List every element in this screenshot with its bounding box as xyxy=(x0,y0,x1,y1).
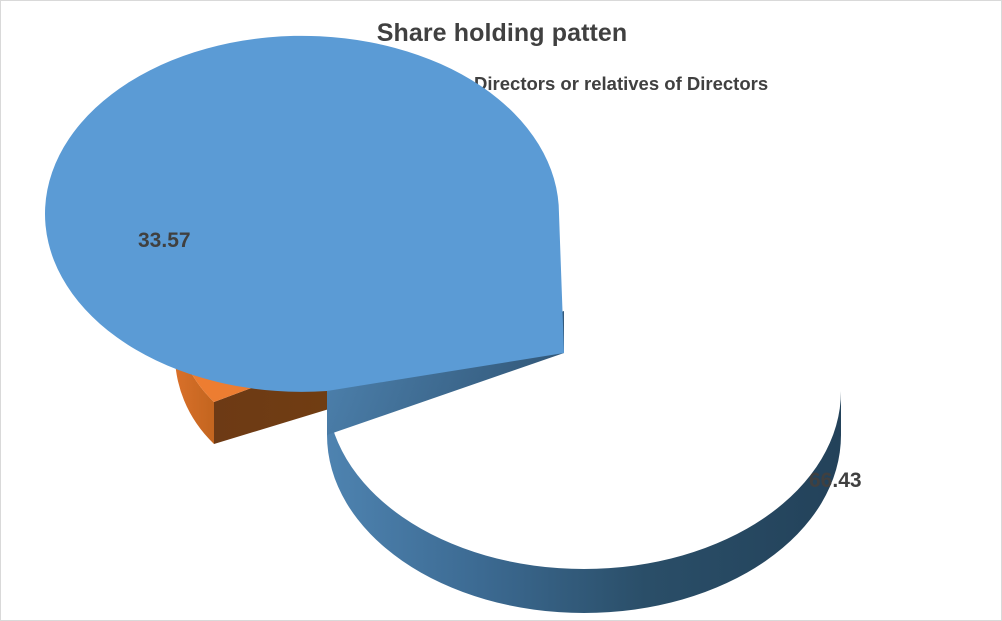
blue-slice-side-wall xyxy=(327,391,841,613)
chart-container: Share holding patten Bodies corporate Di… xyxy=(0,0,1002,621)
pie-slice-blue-3d[interactable] xyxy=(45,36,841,613)
pie-chart-graphic xyxy=(1,1,1002,621)
data-label-orange: 33.57 xyxy=(138,229,191,253)
data-label-blue: 66.43 xyxy=(809,469,862,493)
blue-slice-top xyxy=(45,36,564,392)
